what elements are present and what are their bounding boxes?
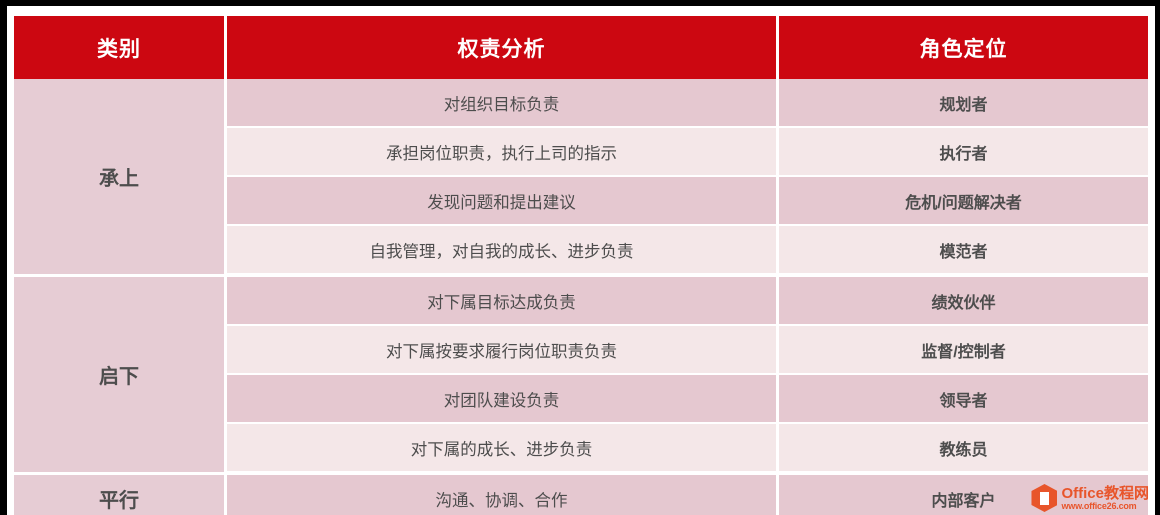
responsibility-cell: 对组织目标负责 <box>227 79 779 128</box>
column-header-role-positioning: 角色定位 <box>779 16 1148 79</box>
role-cell: 教练员 <box>779 424 1148 475</box>
role-cell: 绩效伙伴 <box>779 277 1148 326</box>
slide-frame: 类别 权责分析 角色定位 承上 对组织目标负责 规划者 承担岗位职责，执行上司的… <box>0 0 1160 515</box>
responsibility-cell: 对下属按要求履行岗位职责负责 <box>227 326 779 375</box>
slide-page: 类别 权责分析 角色定位 承上 对组织目标负责 规划者 承担岗位职责，执行上司的… <box>7 6 1155 515</box>
category-cell-group-3: 平行 <box>14 475 227 515</box>
watermark: Office教程网 www.office26.com <box>1027 481 1153 514</box>
table-body: 承上 对组织目标负责 规划者 承担岗位职责，执行上司的指示 执行者 发现问题和提… <box>14 79 1148 515</box>
responsibility-cell: 自我管理，对自我的成长、进步负责 <box>227 226 779 277</box>
table-header-row: 类别 权责分析 角色定位 <box>14 16 1148 79</box>
watermark-url: www.office26.com <box>1061 502 1149 511</box>
watermark-title: Office教程网 <box>1061 486 1149 501</box>
responsibility-table: 类别 权责分析 角色定位 承上 对组织目标负责 规划者 承担岗位职责，执行上司的… <box>14 16 1148 515</box>
category-cell-group-2: 启下 <box>14 277 227 475</box>
responsibility-cell: 对团队建设负责 <box>227 375 779 424</box>
responsibility-cell: 承担岗位职责，执行上司的指示 <box>227 128 779 177</box>
role-cell: 执行者 <box>779 128 1148 177</box>
table-row: 平行 沟通、协调、合作 内部客户 <box>14 475 1148 515</box>
table-row: 启下 对下属目标达成负责 绩效伙伴 <box>14 277 1148 326</box>
role-cell: 领导者 <box>779 375 1148 424</box>
role-cell: 模范者 <box>779 226 1148 277</box>
role-cell: 危机/问题解决者 <box>779 177 1148 226</box>
responsibility-cell: 对下属的成长、进步负责 <box>227 424 779 475</box>
role-cell: 规划者 <box>779 79 1148 128</box>
watermark-text: Office教程网 www.office26.com <box>1061 486 1149 511</box>
role-cell: 监督/控制者 <box>779 326 1148 375</box>
table-header: 类别 权责分析 角色定位 <box>14 16 1148 79</box>
responsibility-cell: 发现问题和提出建议 <box>227 177 779 226</box>
column-header-category: 类别 <box>14 16 227 79</box>
office-logo-icon <box>1031 484 1057 512</box>
responsibility-cell: 对下属目标达成负责 <box>227 277 779 326</box>
column-header-responsibility-analysis: 权责分析 <box>227 16 779 79</box>
category-cell-group-1: 承上 <box>14 79 227 277</box>
responsibility-cell: 沟通、协调、合作 <box>227 475 779 515</box>
table-row: 承上 对组织目标负责 规划者 <box>14 79 1148 128</box>
